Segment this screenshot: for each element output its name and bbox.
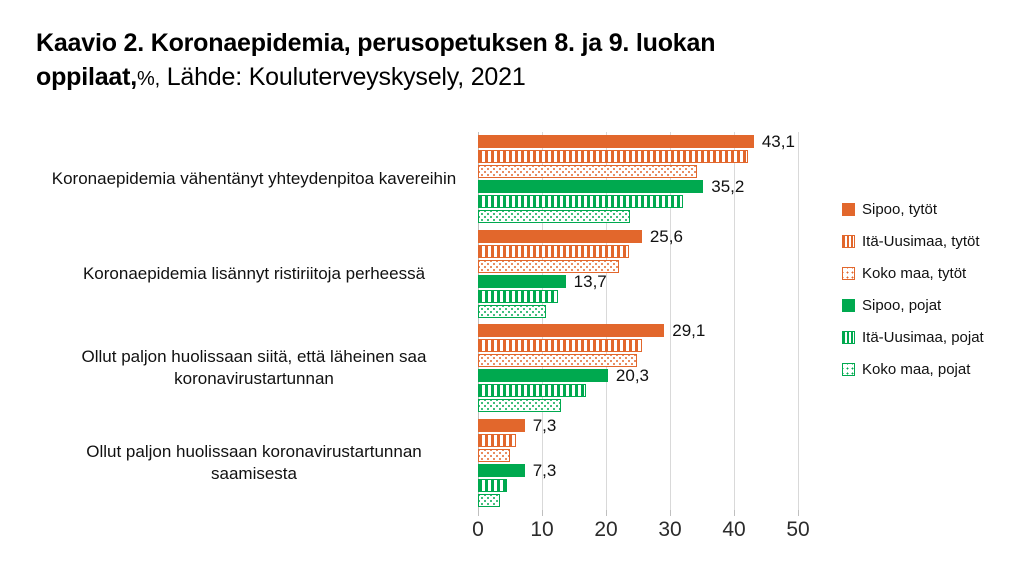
bar xyxy=(478,399,561,412)
chart-title-line-2: oppilaat,%, Lähde: Kouluterveyskysely, 2… xyxy=(36,60,936,94)
category-label: Ollut paljon huolissaan koronavirustartu… xyxy=(44,441,464,485)
bar xyxy=(478,494,500,507)
bar-value-label: 29,1 xyxy=(672,321,705,341)
legend-item-label: Sipoo, pojat xyxy=(862,297,941,314)
chart-title-line-1-text: Kaavio 2. Koronaepidemia, perusopetuksen… xyxy=(36,29,715,57)
bar xyxy=(478,245,629,258)
bar xyxy=(478,165,697,178)
category-label: Koronaepidemia vähentänyt yhteydenpitoa … xyxy=(44,168,464,190)
bar xyxy=(478,195,683,208)
legend-item-label: Sipoo, tytöt xyxy=(862,201,937,218)
bar xyxy=(478,449,510,462)
category-label: Koronaepidemia lisännyt ristiriitoja per… xyxy=(44,263,464,285)
legend-swatch-solid-orange xyxy=(842,203,855,216)
x-axis-tick-label: 30 xyxy=(658,518,681,542)
chart-title-unit: %, xyxy=(137,68,160,90)
tick-mark-10 xyxy=(542,510,543,516)
bar-value-label: 7,3 xyxy=(533,461,557,481)
bar xyxy=(478,150,748,163)
bar xyxy=(478,339,642,352)
bar-value-label: 7,3 xyxy=(533,416,557,436)
tick-mark-50 xyxy=(798,510,799,516)
bar xyxy=(478,305,546,318)
legend-item[interactable]: Itä-Uusimaa, pojat xyxy=(842,321,1022,353)
legend-swatch-dotted-green xyxy=(842,363,855,376)
bar xyxy=(478,275,566,288)
x-axis-tick-label: 50 xyxy=(786,518,809,542)
bar xyxy=(478,354,637,367)
legend-swatch-solid-green xyxy=(842,299,855,312)
bar xyxy=(478,369,608,382)
tick-mark-30 xyxy=(670,510,671,516)
bar xyxy=(478,479,507,492)
bar-value-label: 35,2 xyxy=(711,177,744,197)
legend-swatch-dotted-orange xyxy=(842,267,855,280)
legend-item-label: Itä-Uusimaa, tytöt xyxy=(862,233,980,250)
tick-mark-20 xyxy=(606,510,607,516)
bar xyxy=(478,384,586,397)
bar xyxy=(478,210,630,223)
bar xyxy=(478,419,525,432)
legend-item-label: Koko maa, tytöt xyxy=(862,265,966,282)
bar xyxy=(478,230,642,243)
chart-title-subject: oppilaat, xyxy=(36,63,137,91)
legend-item-label: Koko maa, pojat xyxy=(862,361,970,378)
chart-legend: Sipoo, tytötItä-Uusimaa, tytötKoko maa, … xyxy=(842,193,1022,385)
legend-item[interactable]: Itä-Uusimaa, tytöt xyxy=(842,225,1022,257)
legend-swatch-striped-green xyxy=(842,331,855,344)
x-axis-tick-label: 40 xyxy=(722,518,745,542)
category-label: Ollut paljon huolissaan siitä, että lähe… xyxy=(44,346,464,390)
bar-value-label: 43,1 xyxy=(762,132,795,152)
bar xyxy=(478,464,525,477)
legend-item[interactable]: Sipoo, pojat xyxy=(842,289,1022,321)
bar xyxy=(478,180,703,193)
gridline-50 xyxy=(798,132,799,510)
chart-title-line-1: Kaavio 2. Koronaepidemia, perusopetuksen… xyxy=(36,26,936,60)
bar xyxy=(478,135,754,148)
legend-item[interactable]: Koko maa, tytöt xyxy=(842,257,1022,289)
x-axis-tick-label: 20 xyxy=(594,518,617,542)
legend-item[interactable]: Koko maa, pojat xyxy=(842,353,1022,385)
legend-item-label: Itä-Uusimaa, pojat xyxy=(862,329,984,346)
chart-title-source: Lähde: Kouluterveyskysely, 2021 xyxy=(167,63,526,91)
bar-value-label: 25,6 xyxy=(650,227,683,247)
tick-mark-40 xyxy=(734,510,735,516)
bar xyxy=(478,434,516,447)
bar-value-label: 13,7 xyxy=(574,272,607,292)
x-axis-tick-label: 0 xyxy=(472,518,484,542)
bar-value-label: 20,3 xyxy=(616,366,649,386)
legend-item[interactable]: Sipoo, tytöt xyxy=(842,193,1022,225)
bar xyxy=(478,290,558,303)
chart-title: Kaavio 2. Koronaepidemia, perusopetuksen… xyxy=(36,26,936,94)
tick-mark-0 xyxy=(478,510,479,516)
x-axis-tick-label: 10 xyxy=(530,518,553,542)
bar xyxy=(478,324,664,337)
plot-area: 43,135,225,613,729,120,37,37,3 010203040… xyxy=(478,132,798,510)
legend-swatch-striped-orange xyxy=(842,235,855,248)
